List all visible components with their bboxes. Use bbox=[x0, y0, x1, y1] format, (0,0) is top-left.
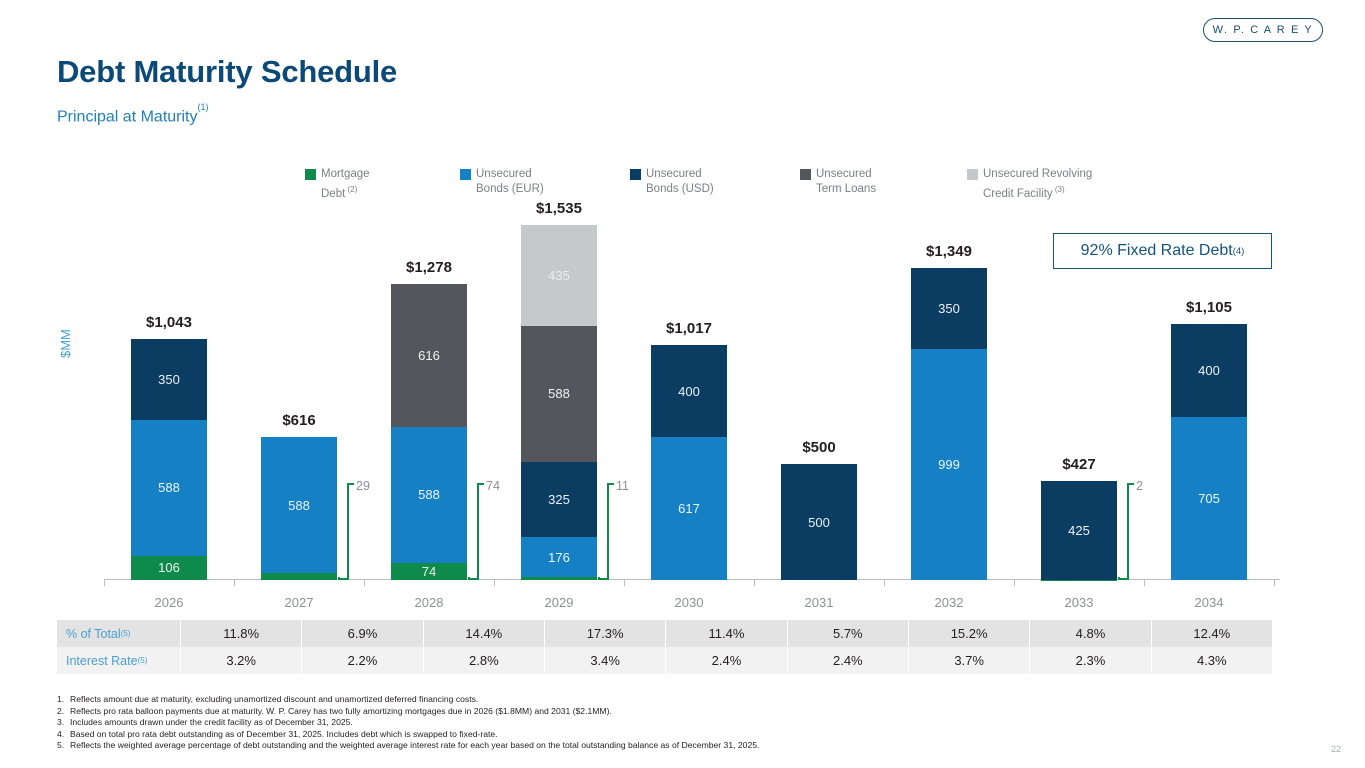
callout-bracket bbox=[477, 483, 484, 485]
table-cell-2027: 2.2% bbox=[302, 647, 423, 674]
bar-segment-unsecured_bonds_usd-2031: 500 bbox=[781, 464, 857, 580]
callout-bracket bbox=[1127, 485, 1129, 580]
bar-segment-unsecured_revolver-2029: 435 bbox=[521, 225, 597, 326]
callout-bracket bbox=[477, 485, 479, 580]
chart-legend: MortgageDebt (2)UnsecuredBonds (EUR)Unse… bbox=[305, 167, 1115, 207]
bar-segment-value: 588 bbox=[418, 487, 440, 502]
bar-segment-unsecured_bonds_eur-2029: 176 bbox=[521, 537, 597, 578]
callout-bracket bbox=[347, 483, 354, 485]
table-cell-2032: 15.2% bbox=[909, 620, 1030, 647]
table-cell-2028: 2.8% bbox=[424, 647, 545, 674]
bar-segment-value: 500 bbox=[808, 515, 830, 530]
page-subtitle: Principal at Maturity(1) bbox=[57, 107, 209, 126]
bar-total-label-2030: $1,017 bbox=[624, 320, 754, 337]
bar-segment-value: 325 bbox=[548, 492, 570, 507]
bar-segment-value: 74 bbox=[422, 564, 436, 579]
bar-segment-unsecured_bonds_eur-2028: 588 bbox=[391, 427, 467, 563]
bar-segment-unsecured_bonds_eur-2027: 588 bbox=[261, 437, 337, 573]
x-axis-tick bbox=[624, 580, 625, 586]
callout-value: 29 bbox=[356, 479, 370, 493]
bar-segment-unsecured_term_loans-2028: 616 bbox=[391, 284, 467, 426]
legend-item-term-loans: UnsecuredTerm Loans bbox=[800, 167, 876, 197]
table-cell-2034: 4.3% bbox=[1152, 647, 1273, 674]
x-axis-tick-label-2027: 2027 bbox=[234, 595, 364, 610]
footnote-item: 1.Reflects amount due at maturity, exclu… bbox=[57, 694, 1257, 706]
x-axis-tick-label-2032: 2032 bbox=[884, 595, 1014, 610]
table-cell-2029: 3.4% bbox=[545, 647, 666, 674]
footnote-item: 3.Includes amounts drawn under the credi… bbox=[57, 717, 1257, 729]
x-axis-tick bbox=[364, 580, 365, 586]
bar-segment-mortgage_debt-2028: 74 bbox=[391, 563, 467, 580]
legend-label: UnsecuredTerm Loans bbox=[816, 167, 876, 197]
legend-swatch-icon bbox=[630, 169, 641, 180]
x-axis-tick bbox=[884, 580, 885, 586]
bar-segment-value: 425 bbox=[1068, 523, 1090, 538]
table-cell-2026: 11.8% bbox=[181, 620, 302, 647]
slide-root: W. P. C A R E Y Debt Maturity Schedule P… bbox=[0, 0, 1365, 768]
x-axis-tick-label-2029: 2029 bbox=[494, 595, 624, 610]
wpcarey-logo: W. P. C A R E Y bbox=[1203, 18, 1323, 42]
footnote-item: 4.Based on total pro rata debt outstandi… bbox=[57, 729, 1257, 741]
x-axis-tick bbox=[1144, 580, 1145, 586]
bar-total-label-2033: $427 bbox=[1014, 456, 1144, 473]
bar-segment-unsecured_bonds_usd-2033: 425 bbox=[1041, 481, 1117, 579]
stacked-bar-2031[interactable]: 500 bbox=[781, 464, 857, 580]
bar-segment-value: 106 bbox=[158, 560, 180, 575]
bar-segment-value: 705 bbox=[1198, 491, 1220, 506]
x-axis-tick bbox=[494, 580, 495, 586]
y-axis-label: $MM bbox=[58, 329, 73, 358]
callout-bracket bbox=[607, 485, 609, 580]
bar-segment-unsecured_bonds_usd-2026: 350 bbox=[131, 339, 207, 420]
stacked-bar-2030[interactable]: 400617 bbox=[651, 345, 727, 580]
table-cell-2033: 2.3% bbox=[1030, 647, 1151, 674]
footnotes-list: 1.Reflects amount due at maturity, exclu… bbox=[57, 694, 1257, 752]
callout-bracket bbox=[347, 485, 349, 580]
legend-item-bonds-eur: UnsecuredBonds (EUR) bbox=[460, 167, 544, 197]
summary-table: % of Total (5)11.8%6.9%14.4%17.3%11.4%5.… bbox=[57, 620, 1273, 674]
page-number: 22 bbox=[1331, 744, 1341, 754]
table-cell-2034: 12.4% bbox=[1152, 620, 1273, 647]
bar-segment-unsecured_bonds_eur-2030: 617 bbox=[651, 437, 727, 580]
logo-text: W. P. C A R E Y bbox=[1213, 24, 1314, 36]
footnote-number: 4. bbox=[57, 729, 70, 741]
bar-segment-value: 400 bbox=[1198, 363, 1220, 378]
bar-total-label-2029: $1,535 bbox=[494, 200, 624, 217]
footnote-number: 1. bbox=[57, 694, 70, 706]
table-row-header: % of Total (5) bbox=[57, 620, 181, 647]
page-subtitle-footnote: (1) bbox=[198, 102, 209, 112]
x-axis-tick bbox=[104, 580, 105, 586]
bar-segment-value: 616 bbox=[418, 348, 440, 363]
x-axis-tick bbox=[1274, 580, 1275, 586]
table-cell-2029: 17.3% bbox=[545, 620, 666, 647]
footnote-text: Reflects amount due at maturity, excludi… bbox=[70, 694, 478, 706]
bar-total-label-2028: $1,278 bbox=[364, 259, 494, 276]
footnote-number: 3. bbox=[57, 717, 70, 729]
table-cell-2030: 11.4% bbox=[666, 620, 787, 647]
debt-maturity-chart: 350588106$1,0432026588$61620272961658874… bbox=[104, 210, 1280, 580]
footnote-number: 2. bbox=[57, 706, 70, 718]
table-cell-2030: 2.4% bbox=[666, 647, 787, 674]
bar-segment-value: 588 bbox=[288, 498, 310, 513]
bar-segment-unsecured_bonds_usd-2032: 350 bbox=[911, 268, 987, 349]
callout-value: 11 bbox=[616, 479, 629, 493]
table-row: Interest Rate (5)3.2%2.2%2.8%3.4%2.4%2.4… bbox=[57, 647, 1273, 674]
bar-segment-value: 350 bbox=[158, 372, 180, 387]
x-axis-tick-label-2026: 2026 bbox=[104, 595, 234, 610]
x-axis-tick bbox=[1014, 580, 1015, 586]
bar-segment-value: 350 bbox=[938, 301, 960, 316]
bar-segment-value: 588 bbox=[158, 480, 180, 495]
page-title: Debt Maturity Schedule bbox=[57, 54, 397, 90]
legend-label: UnsecuredBonds (USD) bbox=[646, 167, 714, 197]
bar-segment-unsecured_bonds_eur-2026: 588 bbox=[131, 420, 207, 556]
footnote-text: Includes amounts drawn under the credit … bbox=[70, 717, 353, 729]
table-cell-2031: 5.7% bbox=[788, 620, 909, 647]
table-cell-2028: 14.4% bbox=[424, 620, 545, 647]
bar-total-label-2026: $1,043 bbox=[104, 314, 234, 331]
bar-total-label-2034: $1,105 bbox=[1144, 299, 1274, 316]
bar-segment-unsecured_bonds_eur-2034: 705 bbox=[1171, 417, 1247, 580]
x-axis-tick-label-2028: 2028 bbox=[364, 595, 494, 610]
legend-item-debt: MortgageDebt (2) bbox=[305, 167, 370, 202]
table-cell-2027: 6.9% bbox=[302, 620, 423, 647]
stacked-bar-2028[interactable]: 61658874 bbox=[391, 284, 467, 580]
callout-bracket bbox=[1127, 483, 1134, 485]
stacked-bar-2032[interactable]: 350999 bbox=[911, 268, 987, 580]
footnote-item: 5.Reflects the weighted average percenta… bbox=[57, 740, 1257, 752]
chart-plot-area: 350588106$1,0432026588$61620272961658874… bbox=[104, 210, 1280, 580]
bar-segment-value: 617 bbox=[678, 501, 700, 516]
bar-segment-value: 435 bbox=[548, 268, 570, 283]
callout-value: 2 bbox=[1136, 479, 1143, 493]
footnote-text: Based on total pro rata debt outstanding… bbox=[70, 729, 498, 741]
bar-segment-unsecured_bonds_usd-2029: 325 bbox=[521, 462, 597, 537]
bar-segment-unsecured_term_loans-2029: 588 bbox=[521, 326, 597, 462]
legend-label: UnsecuredBonds (EUR) bbox=[476, 167, 544, 197]
table-row: % of Total (5)11.8%6.9%14.4%17.3%11.4%5.… bbox=[57, 620, 1273, 647]
legend-swatch-icon bbox=[305, 169, 316, 180]
callout-value: 74 bbox=[486, 479, 500, 493]
x-axis-tick-label-2034: 2034 bbox=[1144, 595, 1274, 610]
bar-segment-unsecured_bonds_usd-2030: 400 bbox=[651, 345, 727, 438]
legend-label: MortgageDebt (2) bbox=[321, 167, 370, 202]
x-axis-tick bbox=[234, 580, 235, 586]
bar-segment-mortgage_debt-2029 bbox=[521, 577, 597, 580]
table-row-header: Interest Rate (5) bbox=[57, 647, 181, 674]
legend-swatch-icon bbox=[800, 169, 811, 180]
legend-swatch-icon bbox=[460, 169, 471, 180]
stacked-bar-2029[interactable]: 435588325176 bbox=[521, 225, 597, 580]
bar-segment-value: 999 bbox=[938, 457, 960, 472]
table-cell-2026: 3.2% bbox=[181, 647, 302, 674]
bar-total-label-2031: $500 bbox=[754, 439, 884, 456]
legend-item-credit-facility: Unsecured RevolvingCredit Facility (3) bbox=[967, 167, 1092, 202]
x-axis-tick bbox=[754, 580, 755, 586]
x-axis-tick-label-2030: 2030 bbox=[624, 595, 754, 610]
stacked-bar-2027[interactable]: 588 bbox=[261, 437, 337, 580]
legend-label: Unsecured RevolvingCredit Facility (3) bbox=[983, 167, 1092, 202]
bar-segment-value: 176 bbox=[548, 550, 570, 565]
footnote-text: Reflects the weighted average percentage… bbox=[70, 740, 759, 752]
table-cell-2033: 4.8% bbox=[1030, 620, 1151, 647]
bar-segment-mortgage_debt-2026: 106 bbox=[131, 556, 207, 581]
bar-segment-unsecured_bonds_eur-2032: 999 bbox=[911, 349, 987, 580]
legend-swatch-icon bbox=[967, 169, 978, 180]
stacked-bar-2026[interactable]: 350588106 bbox=[131, 339, 207, 580]
x-axis-tick-label-2033: 2033 bbox=[1014, 595, 1144, 610]
bar-segment-mortgage_debt-2027 bbox=[261, 573, 337, 580]
bar-total-label-2032: $1,349 bbox=[884, 243, 1014, 260]
page-subtitle-text: Principal at Maturity bbox=[57, 108, 198, 125]
bar-segment-value: 588 bbox=[548, 386, 570, 401]
bar-total-label-2027: $616 bbox=[234, 412, 364, 429]
stacked-bar-2034[interactable]: 400705 bbox=[1171, 324, 1247, 580]
callout-bracket bbox=[607, 483, 614, 485]
footnote-text: Reflects pro rata balloon payments due a… bbox=[70, 706, 612, 718]
x-axis-tick-label-2031: 2031 bbox=[754, 595, 884, 610]
stacked-bar-2033[interactable]: 425 bbox=[1041, 481, 1117, 580]
table-cell-2031: 2.4% bbox=[788, 647, 909, 674]
table-cell-2032: 3.7% bbox=[909, 647, 1030, 674]
bar-segment-unsecured_bonds_usd-2034: 400 bbox=[1171, 324, 1247, 417]
footnote-number: 5. bbox=[57, 740, 70, 752]
legend-item-bonds-usd: UnsecuredBonds (USD) bbox=[630, 167, 714, 197]
footnote-item: 2.Reflects pro rata balloon payments due… bbox=[57, 706, 1257, 718]
bar-segment-value: 400 bbox=[678, 384, 700, 399]
